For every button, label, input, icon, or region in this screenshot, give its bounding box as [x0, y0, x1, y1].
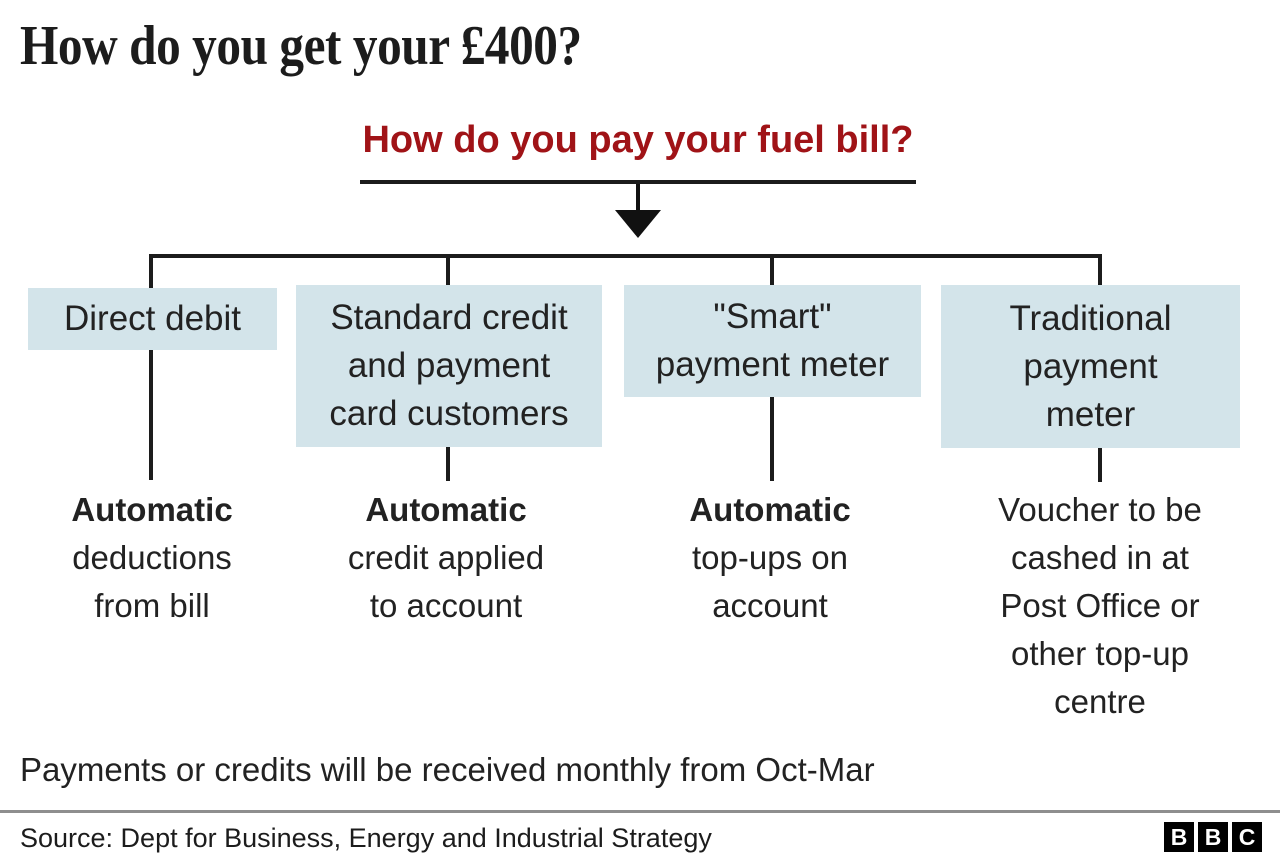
source-text: Source: Dept for Business, Energy and In…	[20, 820, 712, 856]
bbc-logo-block-1: B	[1164, 822, 1194, 852]
page-title: How do you get your £400?	[20, 14, 900, 78]
outcome-2-line2: to account	[310, 582, 582, 630]
outcome-4-line2: cashed in at	[960, 534, 1240, 582]
outcome-4-line3: Post Office or	[960, 582, 1240, 630]
category-box-smart-meter: "Smart" payment meter	[624, 285, 921, 397]
bbc-logo-block-2: B	[1198, 822, 1228, 852]
outcome-2-line1: credit applied	[310, 534, 582, 582]
outcome-text-4: Voucher to be cashed in at Post Office o…	[960, 486, 1240, 726]
connector-bottom-1	[149, 350, 153, 480]
category-label-3-line2: payment meter	[656, 341, 889, 389]
outcome-4-line4: other top-up	[960, 630, 1240, 678]
category-label-4-line1: Traditional	[1009, 295, 1171, 343]
outcome-1-line2: from bill	[24, 582, 280, 630]
footnote-text: Payments or credits will be received mon…	[20, 748, 875, 792]
outcome-text-2: Automatic credit applied to account	[310, 486, 582, 630]
category-label-3-line1: "Smart"	[713, 293, 831, 341]
category-label-2-line2: and payment	[348, 342, 550, 390]
outcome-4-line5: centre	[960, 678, 1240, 726]
root-question-label: How do you pay your fuel bill?	[360, 116, 916, 164]
outcome-4-line1: Voucher to be	[960, 486, 1240, 534]
outcome-3-line1: top-ups on	[640, 534, 900, 582]
outcome-1-line1: deductions	[24, 534, 280, 582]
outcome-3-line2: account	[640, 582, 900, 630]
connector-bottom-3	[770, 397, 774, 481]
outcome-3-bold: Automatic	[689, 491, 850, 528]
connector-bottom-2	[446, 447, 450, 481]
category-box-standard-credit: Standard credit and payment card custome…	[296, 285, 602, 447]
category-label-2-line3: card customers	[329, 390, 568, 438]
branch-bus-line	[151, 254, 1101, 258]
arrow-down-icon-stem	[636, 184, 640, 212]
category-label-2-line1: Standard credit	[330, 294, 567, 342]
connector-bottom-4	[1098, 448, 1102, 482]
category-label-4-line3: meter	[1046, 391, 1135, 439]
category-box-traditional-meter: Traditional payment meter	[941, 285, 1240, 448]
category-box-direct-debit: Direct debit	[28, 288, 277, 350]
footer-divider	[0, 810, 1280, 813]
outcome-2-bold: Automatic	[365, 491, 526, 528]
arrow-down-icon-head	[615, 210, 661, 238]
outcome-1-bold: Automatic	[71, 491, 232, 528]
outcome-text-3: Automatic top-ups on account	[640, 486, 900, 630]
connector-top-1	[149, 254, 153, 290]
outcome-text-1: Automatic deductions from bill	[24, 486, 280, 630]
category-label-4-line2: payment	[1023, 343, 1157, 391]
bbc-logo: B B C	[1164, 822, 1262, 852]
category-label-1: Direct debit	[64, 295, 241, 343]
infographic-canvas: How do you get your £400? How do you pay…	[0, 0, 1280, 864]
bbc-logo-block-3: C	[1232, 822, 1262, 852]
